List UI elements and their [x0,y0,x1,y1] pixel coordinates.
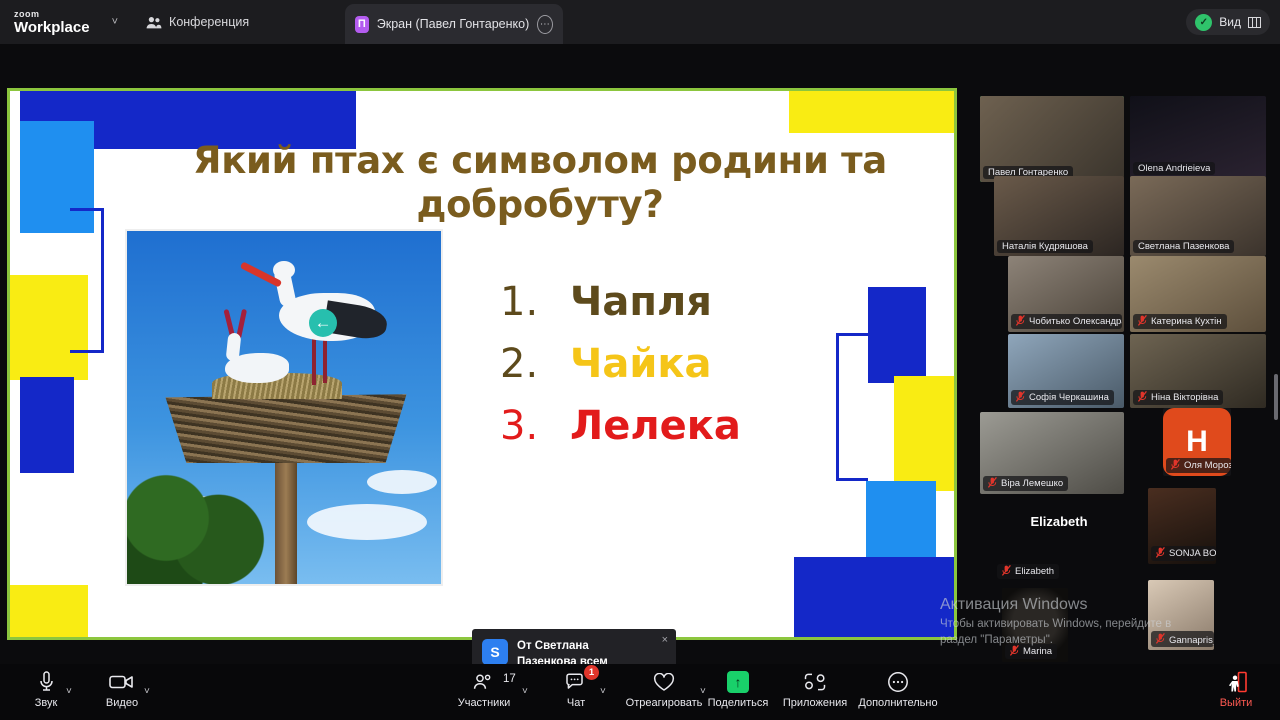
camera-icon [109,670,135,694]
stork-head [273,261,295,279]
tree-shape [125,474,271,584]
participant-tile[interactable]: Ніна Вікторівна [1130,334,1266,408]
participant-name: Marina [1023,646,1052,657]
chat-caret-icon[interactable]: ˅ [600,686,606,697]
answer-list: 1. Чапля 2. Чайка 3. Лелека [500,279,900,465]
screen-share-tab[interactable]: П Экран (Павел Гонтаренко) ⋯ [345,4,563,44]
heart-icon [653,670,675,694]
view-button[interactable]: ✓ Вид [1186,9,1270,35]
view-button-label: Вид [1219,15,1241,29]
answer-text: Лелека [570,403,741,449]
brand-zoom: zoom [14,10,90,19]
share-label: Поделиться [708,697,769,709]
more-button[interactable]: Дополнительно [858,670,938,709]
participants-caret-icon[interactable]: ˅ [522,686,528,697]
participants-panel: Павел ГонтаренкоOlena AndrieievaНаталія … [965,44,1280,664]
participant-name: Ніна Вікторівна [1151,392,1218,403]
participant-nametag: Софія Черкашина [1011,390,1114,405]
answer-number: 1. [500,279,570,325]
presentation-slide: Який птах є символом родини та добробуту… [7,88,957,640]
react-button[interactable]: Отреагировать ˅ [618,670,710,709]
participant-name: Софія Черкашина [1029,392,1109,403]
participants-count: 17 [503,673,516,685]
apps-label: Приложения [783,697,847,709]
apps-button[interactable]: Приложения [779,670,851,709]
meeting-tab-label: Конференция [169,15,249,29]
video-button[interactable]: Видео ˅ [86,670,158,709]
participant-nametag: Чобитько Олександра [1011,314,1122,329]
participant-tile[interactable]: Віра Лемешко [980,412,1124,494]
participant-tile[interactable]: НОля Мороз [1163,408,1231,476]
participant-nametag: Ніна Вікторівна [1133,390,1223,405]
participant-tile[interactable]: Катерина Кухтін [1130,256,1266,332]
answer-number: 2. [500,341,570,387]
avatar: S [482,639,508,665]
answer-option-1: 1. Чапля [500,279,900,325]
participant-name: Віра Лемешко [1001,478,1063,489]
participant-tile[interactable]: Чобитько Олександра [1008,256,1124,332]
answer-text: Чайка [570,341,711,387]
audio-caret-icon[interactable]: ˅ [66,686,72,697]
slide-title: Який птах є символом родини та добробуту… [130,139,950,226]
chat-button[interactable]: 1 Чат ˅ [540,670,612,709]
participant-nametag: SONJA BONDAREWSKAJA † [1151,546,1216,561]
participant-name: Чобитько Олександра [1029,316,1122,327]
shield-icon: ✓ [1195,14,1212,31]
screen-share-tab-label: Экран (Павел Гонтаренко) [377,17,530,31]
participant-nametag: Elizabeth [997,564,1059,579]
decor-yellow-right [894,376,954,491]
chevron-down-icon[interactable]: ˅ [112,16,118,28]
muted-microphone-icon [1002,565,1011,578]
participant-name: Gannapris_ (╱•﹏•╲)∕*… [1169,632,1214,646]
participant-tile[interactable]: Светлана Пазенкова [1130,176,1266,256]
participants-label: Участники [458,697,511,709]
microphone-icon [39,670,54,694]
answer-number: 3. [500,403,570,449]
muted-microphone-icon [988,477,997,490]
leave-button[interactable]: Выйти [1203,670,1269,709]
muted-microphone-icon [1156,547,1165,560]
participant-name: Elizabeth [1015,566,1054,577]
panel-scrollbar[interactable] [1274,374,1278,420]
participant-tile[interactable]: Olena Andrieieva [1130,96,1266,178]
screen-share-badge: П [355,16,369,33]
remote-cursor-icon: ← [309,309,337,337]
apps-icon [804,670,826,694]
muted-microphone-icon [1010,645,1019,658]
brand-workplace: Workplace [14,20,90,35]
leave-meeting-icon [1224,670,1248,694]
audio-label: Звук [35,697,58,709]
stork-photo: ← [125,229,443,586]
video-label: Видео [106,697,138,709]
meeting-toolbar: Звук ˅ Видео ˅ 17 Участники ˅ 1 Чат ˅ От… [0,664,1280,720]
share-screen-icon: ↑ [727,670,749,694]
chat-icon: 1 [565,670,587,694]
participant-name: SONJA BONDAREWSKAJA † [1169,548,1216,559]
participant-tile[interactable]: Павел Гонтаренко [980,96,1124,182]
muted-microphone-icon [1016,391,1025,404]
participant-name: Наталія Кудряшова [1002,241,1088,252]
audio-button[interactable]: Звук ˅ [10,670,82,709]
cloud-shape [307,504,427,540]
decor-yellow-top-right [789,91,954,133]
answer-text: Чапля [570,279,712,325]
react-label: Отреагировать [626,697,703,709]
participant-nametag: Светлана Пазенкова [1133,240,1234,253]
layout-grid-icon [1248,17,1261,28]
video-caret-icon[interactable]: ˅ [144,686,150,697]
participant-tile[interactable]: Gannapris_ (╱•﹏•╲)∕*… [1148,580,1214,650]
stork-leg [323,337,327,383]
decor-outline-left [70,208,104,353]
answer-option-3: 3. Лелека [500,403,900,449]
participant-tile[interactable]: SONJA BONDAREWSKAJA † [1148,488,1216,564]
participant-nametag: Катерина Кухтін [1133,314,1227,329]
muted-microphone-icon [1138,391,1147,404]
share-screen-button[interactable]: ↑ Поделиться [702,670,774,709]
participant-display-name: Elizabeth [994,514,1124,529]
people-icon: 17 [473,670,495,694]
meeting-tab[interactable]: Конференция [146,15,249,29]
muted-microphone-icon [1156,633,1165,646]
decor-yellow-bottomleft [10,585,88,640]
leave-label: Выйти [1220,697,1253,709]
tab-more-icon[interactable]: ⋯ [537,15,553,34]
answer-option-2: 2. Чайка [500,341,900,387]
decor-blue-bottomright [794,557,954,640]
participant-name: Olena Andrieieva [1138,163,1210,174]
cloud-shape [367,470,437,494]
participant-nametag: Оля Мороз [1166,458,1231,473]
shared-screen-stage: Який птах є символом родини та добробуту… [0,44,965,664]
chat-label: Чат [567,697,585,709]
participant-tile[interactable]: Marina [1002,588,1068,662]
participant-nametag: Marina [1005,644,1057,659]
participant-tile[interactable]: Наталія Кудряшова [994,176,1124,256]
participant-nametag: Віра Лемешко [983,476,1068,491]
zoom-logo: zoom Workplace [14,10,90,35]
participant-nametag: Olena Andrieieva [1133,162,1215,175]
muted-microphone-icon [1016,315,1025,328]
participant-tile[interactable]: ElizabethElizabeth [994,496,1124,582]
stork-leg [312,337,316,385]
people-icon [146,16,162,29]
more-label: Дополнительно [858,697,937,709]
participants-button[interactable]: 17 Участники ˅ [448,670,520,709]
participant-name: Светлана Пазенкова [1138,241,1229,252]
chat-unread-badge: 1 [584,665,599,680]
top-bar: zoom Workplace ˅ Конференция П Экран (Па… [0,0,1280,44]
participant-nametag: Gannapris_ (╱•﹏•╲)∕*… [1151,631,1214,647]
close-icon[interactable]: × [662,634,668,646]
more-icon [887,670,909,694]
muted-microphone-icon [1171,459,1180,472]
participant-name: Катерина Кухтін [1151,316,1222,327]
muted-microphone-icon [1138,315,1147,328]
decor-blue-left [20,377,74,473]
participant-tile[interactable]: Софія Черкашина [1008,334,1124,408]
chick-body [225,353,289,383]
participant-name: Оля Мороз [1184,460,1231,471]
participant-nametag: Наталія Кудряшова [997,240,1093,253]
